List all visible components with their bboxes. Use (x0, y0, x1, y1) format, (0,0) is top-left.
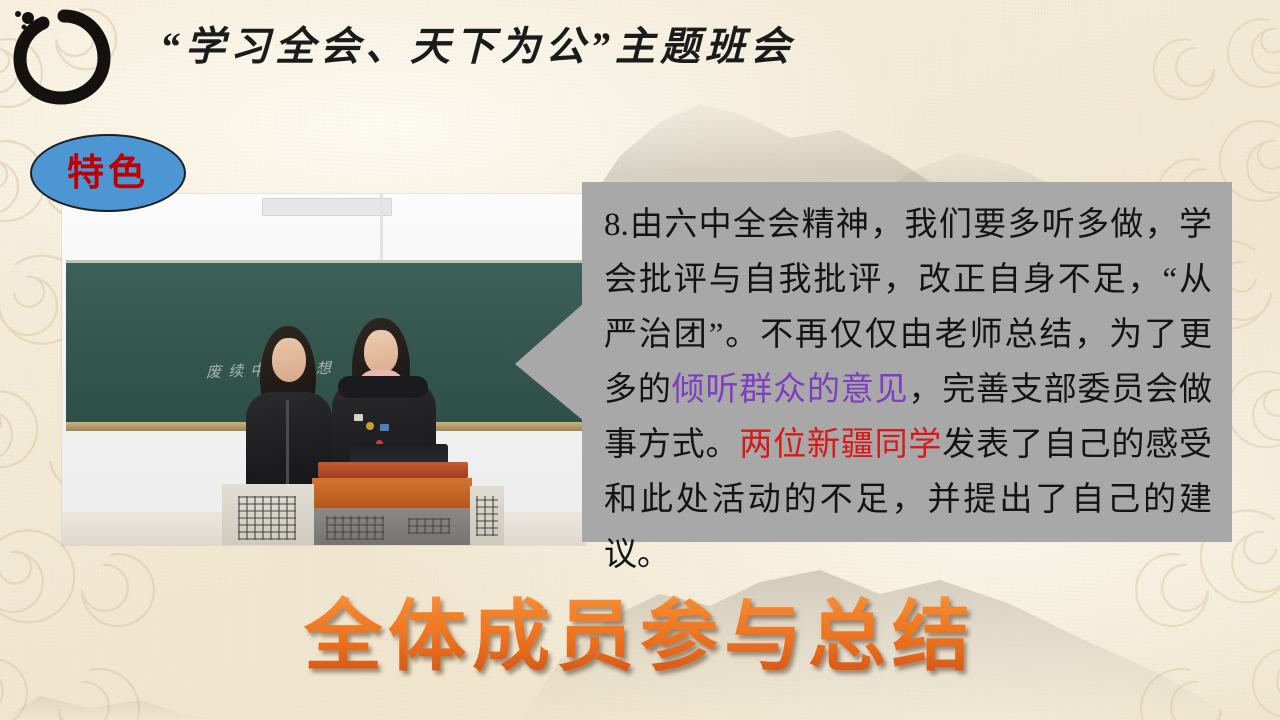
status-badge-label: 特色 (67, 155, 149, 192)
callout-body-text: 8.由六中全会精神，我们要多听多做，学会批评与自我批评，改正自身不足，“从严治团… (604, 198, 1212, 583)
slide-canvas: “学习全会、天下为公”主题班会 特色 废续中山理想 全会 八 (0, 0, 1280, 720)
photo-podium (222, 442, 490, 545)
enso-ink-circle-icon (4, 2, 116, 106)
photo-podium-right-side (470, 486, 504, 545)
callout-segment-3-red: 两位新疆同学 (739, 427, 942, 463)
photo-wall-seam (380, 194, 383, 268)
photo-podium-left-side (222, 484, 314, 545)
classroom-presentation-photo: 废续中山理想 全会 八 (62, 194, 585, 545)
callout-pointer-tail (515, 302, 585, 422)
photo-person-right-badge-3 (380, 424, 389, 431)
callout-text-box: 8.由六中全会精神，我们要多听多做，学会批评与自我批评，改正自身不足，“从严治团… (582, 182, 1232, 542)
photo-podium-vent-right (408, 518, 450, 534)
headline-text: 全体成员参与总结 (304, 574, 976, 686)
photo-person-right-face (364, 330, 398, 374)
photo-podium-front-panel (312, 508, 472, 545)
photo-person-right-badge-1 (354, 414, 363, 421)
headline-banner: 全体成员参与总结 (0, 574, 1280, 686)
callout-segment-1-purple: 倾听群众的意见 (672, 372, 909, 408)
photo-podium-top (318, 462, 468, 478)
photo-podium-left-vent (238, 496, 296, 540)
photo-podium-speaker-vent (326, 516, 384, 540)
photo-podium-right-vent (476, 496, 498, 536)
page-title: “学习全会、天下为公”主题班会 (160, 14, 795, 72)
status-badge: 特色 (30, 134, 186, 212)
photo-person-right-badge-2 (366, 422, 374, 430)
photo-ceiling-fixture (262, 198, 392, 216)
photo-person-left-face (272, 338, 306, 382)
photo-podium-wood-panel (312, 478, 472, 508)
photo-person-right-fur-collar (338, 376, 428, 398)
